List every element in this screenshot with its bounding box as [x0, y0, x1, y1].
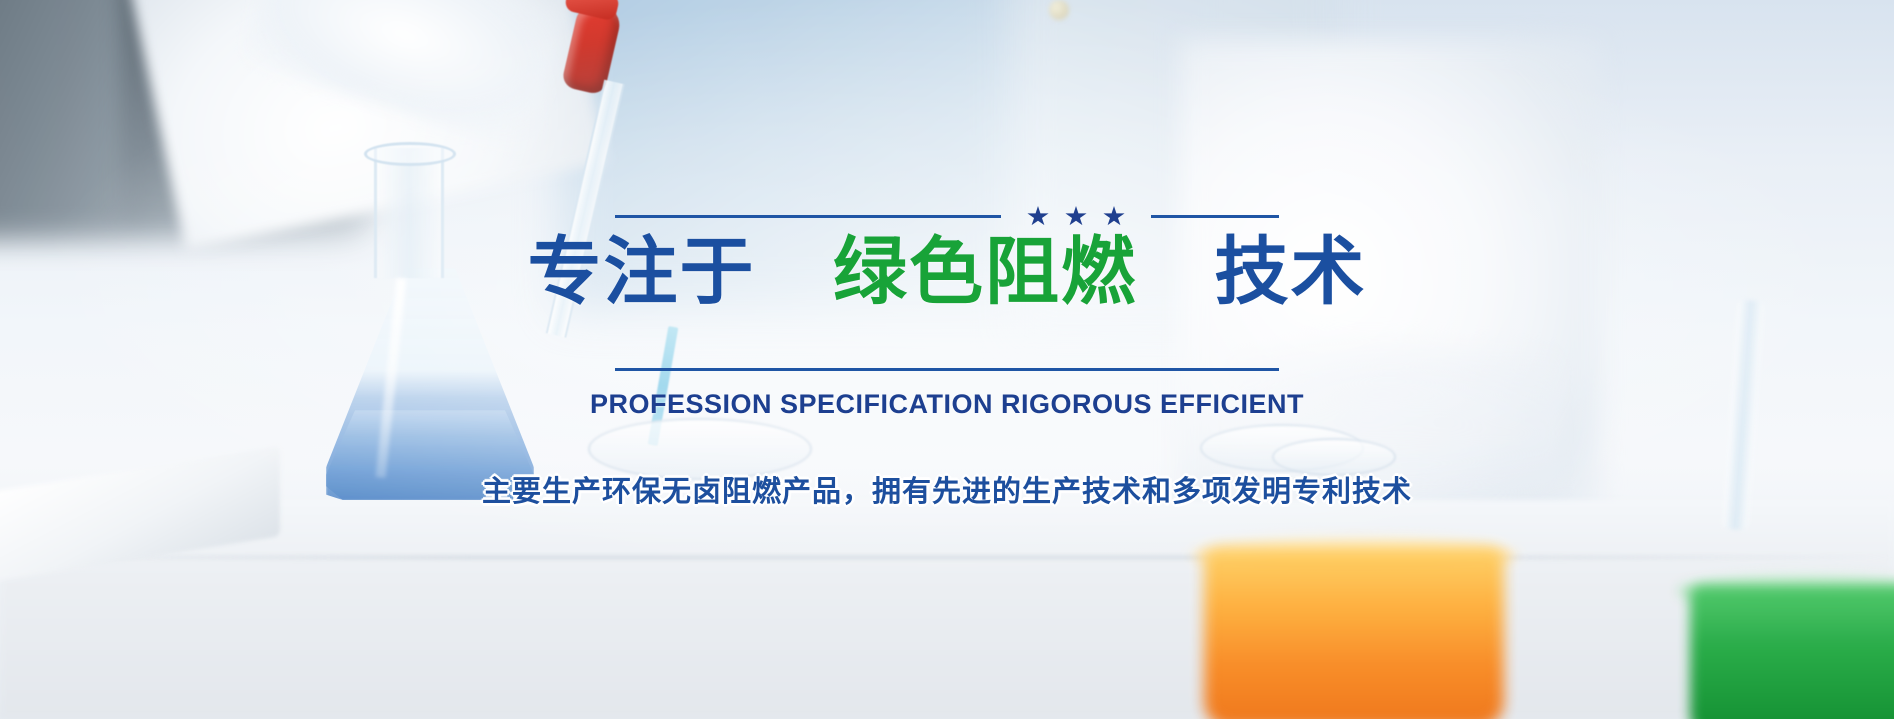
- bottom-divider-rule: [615, 368, 1279, 371]
- star-group: [1027, 206, 1125, 227]
- chinese-tagline: 主要生产环保无卤阻燃产品，拥有先进的生产技术和多项发明专利技术: [482, 468, 1412, 510]
- headline-part-3: 技术: [1215, 229, 1367, 315]
- top-divider: [615, 206, 1279, 227]
- page-title: 专注于 绿色阻燃 技术: [527, 233, 1366, 313]
- headline-part-2: 绿色阻燃: [833, 229, 1137, 315]
- english-subtitle: PROFESSION SPECIFICATION RIGOROUS EFFICI…: [590, 389, 1304, 420]
- star-icon: [1027, 206, 1049, 227]
- divider-rule-left: [615, 215, 1001, 218]
- hero-banner: 专注于 绿色阻燃 技术 PROFESSION SPECIFICATION RIG…: [0, 0, 1894, 719]
- star-icon: [1065, 206, 1087, 227]
- banner-content: 专注于 绿色阻燃 技术 PROFESSION SPECIFICATION RIG…: [0, 0, 1894, 719]
- divider-rule-right: [1151, 215, 1279, 218]
- headline-part-1: 专注于: [527, 229, 755, 315]
- star-icon: [1103, 206, 1125, 227]
